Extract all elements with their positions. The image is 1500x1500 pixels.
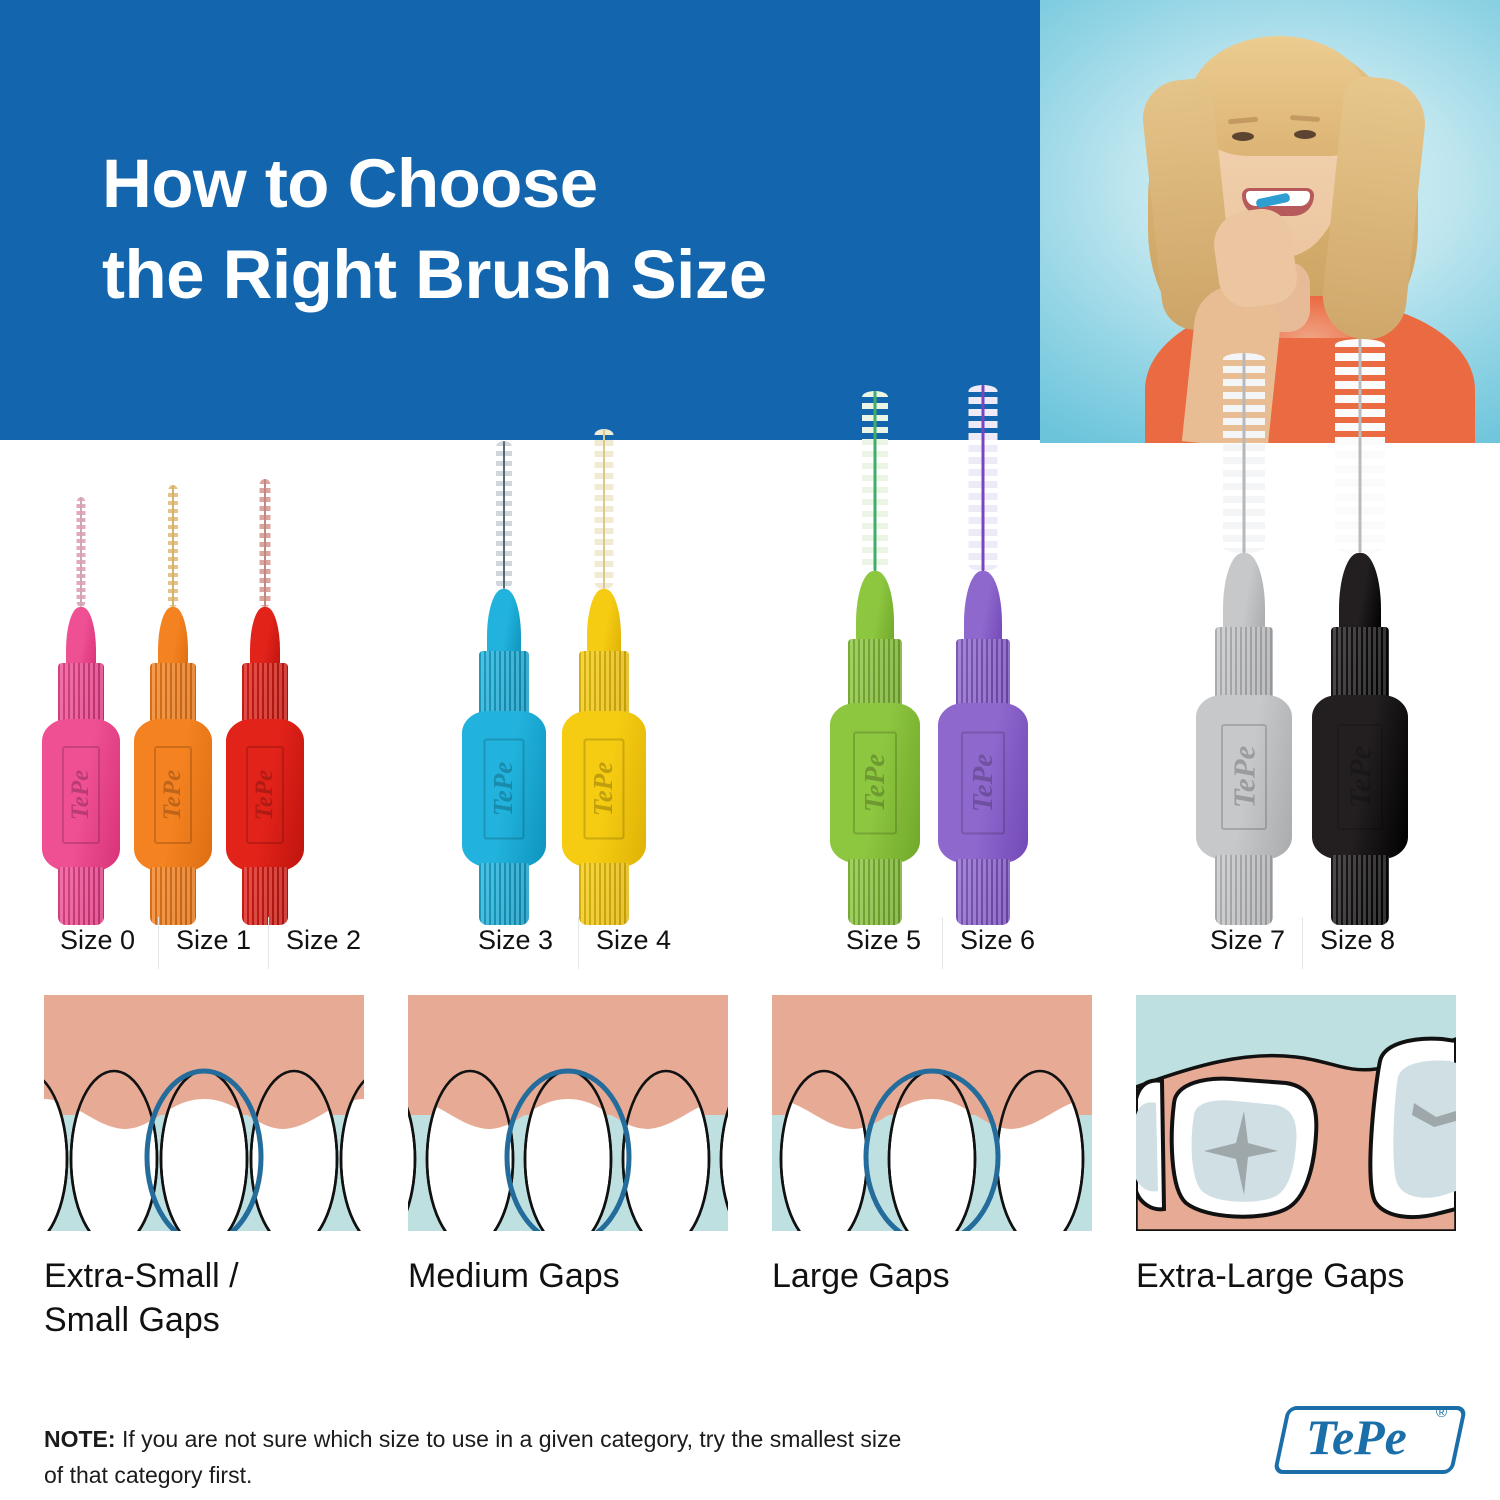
registered-trademark-icon: ® bbox=[1436, 1404, 1447, 1421]
embossed-logo-plate: TePe bbox=[1221, 724, 1267, 830]
embossed-logo-text: TePe bbox=[859, 754, 892, 813]
embossed-logo-plate: TePe bbox=[62, 746, 100, 844]
embossed-logo-text: TePe bbox=[67, 770, 95, 820]
molars-extra-large-gap-diagram bbox=[1136, 995, 1456, 1231]
gap-diagram-row bbox=[0, 995, 1500, 1235]
handle-body: TePe bbox=[562, 711, 646, 867]
handle-grip-upper bbox=[58, 663, 104, 723]
brush-size-lineup: TePeTePeTePeTePeTePeTePeTePeTePeTePe bbox=[0, 455, 1500, 925]
embossed-logo-plate: TePe bbox=[584, 739, 625, 840]
brush-group-medium: TePeTePe bbox=[462, 429, 646, 925]
bristle-head bbox=[862, 391, 888, 571]
brush-handle: TePe bbox=[462, 589, 546, 925]
size-label-size-8: Size 8 bbox=[1320, 925, 1395, 956]
handle-grip-upper bbox=[242, 663, 288, 723]
handle-grip-lower bbox=[150, 867, 196, 925]
handle-grip-upper bbox=[1215, 627, 1273, 699]
brush-handle: TePe bbox=[1196, 553, 1292, 925]
size-label-size-0: Size 0 bbox=[60, 925, 135, 956]
handle-body: TePe bbox=[938, 703, 1028, 863]
size-label-size-3: Size 3 bbox=[478, 925, 553, 956]
size-label-divider bbox=[158, 917, 159, 969]
handle-grip-lower bbox=[956, 859, 1010, 925]
size-label-divider bbox=[1302, 917, 1303, 969]
brush-size-3[interactable]: TePe bbox=[462, 441, 546, 925]
size-label-size-2: Size 2 bbox=[286, 925, 361, 956]
bristle-head bbox=[77, 497, 86, 607]
embossed-logo-plate: TePe bbox=[1337, 724, 1383, 830]
handle-neck bbox=[66, 607, 96, 669]
handle-grip-lower bbox=[848, 859, 902, 925]
handle-grip-lower bbox=[479, 863, 529, 925]
gap-caption-row: Extra-Small / Small GapsMedium GapsLarge… bbox=[0, 1255, 1500, 1375]
handle-neck bbox=[856, 571, 894, 645]
embossed-logo-plate: TePe bbox=[961, 732, 1005, 835]
gap-caption-3: Extra-Large Gaps bbox=[1136, 1255, 1404, 1299]
handle-grip-upper bbox=[1331, 627, 1389, 699]
size-label-size-7: Size 7 bbox=[1210, 925, 1285, 956]
handle-grip-lower bbox=[1331, 855, 1389, 925]
photo-eye-right bbox=[1294, 130, 1316, 139]
handle-grip-lower bbox=[242, 867, 288, 925]
handle-body: TePe bbox=[1196, 695, 1292, 859]
handle-body: TePe bbox=[42, 719, 120, 871]
embossed-logo-text: TePe bbox=[589, 762, 620, 816]
header-blue-panel: How to Choose the Right Brush Size bbox=[0, 0, 1040, 440]
handle-grip-upper bbox=[150, 663, 196, 723]
teeth-tight-contact-diagram bbox=[44, 995, 364, 1231]
handle-grip-upper bbox=[579, 651, 629, 715]
brush-handle: TePe bbox=[830, 571, 920, 925]
brush-handle: TePe bbox=[1312, 553, 1408, 925]
embossed-logo-text: TePe bbox=[251, 770, 279, 820]
handle-body: TePe bbox=[830, 703, 920, 863]
tepe-logo: TePe ® bbox=[1276, 1400, 1466, 1482]
brush-group-extra-small-small: TePeTePeTePe bbox=[42, 479, 304, 925]
handle-body: TePe bbox=[462, 711, 546, 867]
gap-caption-1: Medium Gaps bbox=[408, 1255, 620, 1299]
embossed-logo-text: TePe bbox=[159, 770, 187, 820]
brush-size-1[interactable]: TePe bbox=[134, 485, 212, 925]
handle-grip-lower bbox=[1215, 855, 1273, 925]
page-title: How to Choose the Right Brush Size bbox=[102, 138, 982, 320]
bristle-head bbox=[1223, 353, 1265, 553]
handle-neck bbox=[1223, 553, 1265, 633]
embossed-logo-text: TePe bbox=[1226, 746, 1262, 809]
bristle-wire bbox=[503, 441, 505, 589]
handle-grip-lower bbox=[579, 863, 629, 925]
note-text: NOTE: If you are not sure which size to … bbox=[44, 1422, 924, 1493]
bristle-head bbox=[969, 385, 998, 571]
bristle-wire bbox=[264, 479, 266, 607]
bristle-wire bbox=[982, 385, 985, 571]
bristle-wire bbox=[874, 391, 877, 571]
embossed-logo-text: TePe bbox=[1342, 746, 1378, 809]
gap-caption-2: Large Gaps bbox=[772, 1255, 950, 1299]
brush-handle: TePe bbox=[938, 571, 1028, 925]
handle-body: TePe bbox=[134, 719, 212, 871]
handle-grip-upper bbox=[848, 639, 902, 707]
embossed-logo-plate: TePe bbox=[246, 746, 284, 844]
bristle-head bbox=[168, 485, 178, 607]
brush-size-2[interactable]: TePe bbox=[226, 479, 304, 925]
bristle-wire bbox=[80, 497, 82, 607]
handle-neck bbox=[250, 607, 280, 669]
embossed-logo-text: TePe bbox=[489, 762, 520, 816]
brush-size-6[interactable]: TePe bbox=[938, 385, 1028, 925]
bristle-head bbox=[595, 429, 614, 589]
brush-size-5[interactable]: TePe bbox=[830, 391, 920, 925]
handle-grip-lower bbox=[58, 867, 104, 925]
bristle-wire bbox=[172, 485, 174, 607]
handle-neck bbox=[1339, 553, 1381, 633]
brush-size-7[interactable]: TePe bbox=[1196, 353, 1292, 925]
bristle-wire bbox=[1359, 339, 1362, 553]
handle-neck bbox=[587, 589, 621, 657]
brush-handle: TePe bbox=[562, 589, 646, 925]
brush-group-extra-large: TePeTePe bbox=[1196, 339, 1408, 925]
size-label-divider bbox=[578, 917, 579, 969]
embossed-logo-text: TePe bbox=[967, 754, 1000, 813]
handle-body: TePe bbox=[226, 719, 304, 871]
size-label-size-1: Size 1 bbox=[176, 925, 251, 956]
handle-body: TePe bbox=[1312, 695, 1408, 859]
note-prefix: NOTE: bbox=[44, 1426, 116, 1452]
brush-handle: TePe bbox=[42, 607, 120, 925]
brush-size-8[interactable]: TePe bbox=[1312, 339, 1408, 925]
size-label-size-5: Size 5 bbox=[846, 925, 921, 956]
handle-grip-upper bbox=[956, 639, 1010, 707]
bristle-head bbox=[1335, 339, 1385, 553]
logo-wordmark: TePe bbox=[1306, 1408, 1407, 1466]
teeth-medium-gap-diagram bbox=[408, 995, 728, 1231]
teeth-large-gap-diagram bbox=[772, 995, 1092, 1231]
bristle-wire bbox=[1243, 353, 1246, 553]
embossed-logo-plate: TePe bbox=[853, 732, 897, 835]
bristle-head bbox=[496, 441, 512, 589]
bristle-wire bbox=[603, 429, 605, 589]
brush-size-0[interactable]: TePe bbox=[42, 497, 120, 925]
brush-size-4[interactable]: TePe bbox=[562, 429, 646, 925]
size-label-divider bbox=[942, 917, 943, 969]
embossed-logo-plate: TePe bbox=[154, 746, 192, 844]
size-label-divider bbox=[268, 917, 269, 969]
embossed-logo-plate: TePe bbox=[484, 739, 525, 840]
bristle-head bbox=[260, 479, 271, 607]
gap-caption-0: Extra-Small / Small Gaps bbox=[44, 1255, 239, 1342]
brush-group-large: TePeTePe bbox=[830, 385, 1028, 925]
photo-eye-left bbox=[1232, 132, 1254, 141]
size-label-row: Size 0Size 1Size 2Size 3Size 4Size 5Size… bbox=[0, 925, 1500, 985]
note-body: If you are not sure which size to use in… bbox=[44, 1426, 901, 1488]
handle-neck bbox=[487, 589, 521, 657]
handle-grip-upper bbox=[479, 651, 529, 715]
brush-handle: TePe bbox=[134, 607, 212, 925]
brush-handle: TePe bbox=[226, 607, 304, 925]
handle-neck bbox=[158, 607, 188, 669]
size-label-size-4: Size 4 bbox=[596, 925, 671, 956]
size-label-size-6: Size 6 bbox=[960, 925, 1035, 956]
handle-neck bbox=[964, 571, 1002, 645]
